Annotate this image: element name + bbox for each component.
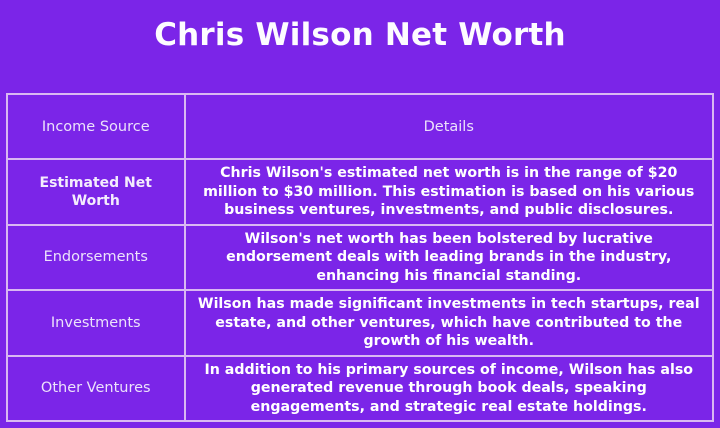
table-row: Investments Wilson has made significant … <box>7 290 713 356</box>
net-worth-table: Income Source Details Estimated Net Wort… <box>6 93 714 422</box>
cell-income-source: Investments <box>7 290 185 356</box>
table-row: Estimated Net Worth Chris Wilson's estim… <box>7 159 713 225</box>
table-row: Other Ventures In addition to his primar… <box>7 356 713 422</box>
cell-income-source: Other Ventures <box>7 356 185 422</box>
cell-income-source: Estimated Net Worth <box>7 159 185 225</box>
table-row: Endorsements Wilson's net worth has been… <box>7 225 713 291</box>
cell-income-source: Endorsements <box>7 225 185 291</box>
page-title: Chris Wilson Net Worth <box>0 16 720 54</box>
column-header-income-source: Income Source <box>7 94 185 159</box>
cell-details: Wilson has made significant investments … <box>185 290 714 356</box>
table-body: Estimated Net Worth Chris Wilson's estim… <box>7 159 713 421</box>
table-header: Income Source Details <box>7 94 713 159</box>
net-worth-infographic: Chris Wilson Net Worth Income Source Det… <box>0 0 720 428</box>
cell-details: In addition to his primary sources of in… <box>185 356 714 422</box>
column-header-details: Details <box>185 94 714 159</box>
cell-details: Wilson's net worth has been bolstered by… <box>185 225 714 291</box>
cell-details: Chris Wilson's estimated net worth is in… <box>185 159 714 225</box>
table-header-row: Income Source Details <box>7 94 713 159</box>
